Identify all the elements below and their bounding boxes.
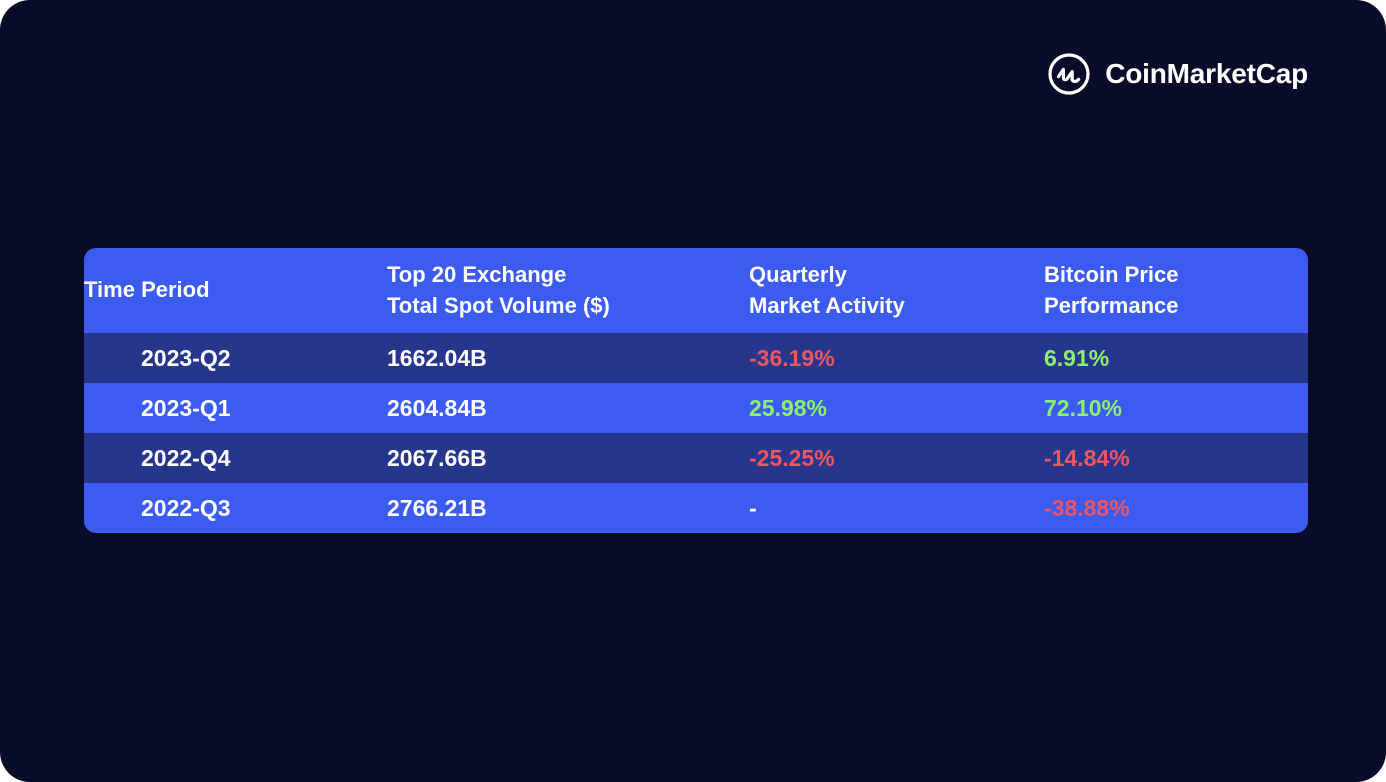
cell-market-activity: -36.19% [749,333,1044,383]
cell-time-period: 2022-Q3 [84,483,387,533]
quarterly-stats-table: Time Period Top 20 Exchange Total Spot V… [84,248,1308,533]
stats-table-container: Time Period Top 20 Exchange Total Spot V… [84,248,1308,533]
cell-market-activity: 25.98% [749,383,1044,433]
cell-time-period: 2023-Q2 [84,333,387,383]
column-header-btc-performance: Bitcoin Price Performance [1044,248,1308,333]
cell-btc-performance: -14.84% [1044,433,1308,483]
cell-spot-volume: 2766.21B [387,483,749,533]
table-row: 2022-Q4 2067.66B -25.25% -14.84% [84,433,1308,483]
cell-time-period: 2023-Q1 [84,383,387,433]
table-body: 2023-Q2 1662.04B -36.19% 6.91% 2023-Q1 2… [84,333,1308,533]
table-row: 2022-Q3 2766.21B - -38.88% [84,483,1308,533]
cell-spot-volume: 1662.04B [387,333,749,383]
table-row: 2023-Q1 2604.84B 25.98% 72.10% [84,383,1308,433]
table-header: Time Period Top 20 Exchange Total Spot V… [84,248,1308,333]
table-row: 2023-Q2 1662.04B -36.19% 6.91% [84,333,1308,383]
cell-btc-performance: 72.10% [1044,383,1308,433]
cell-time-period: 2022-Q4 [84,433,387,483]
column-header-time-period: Time Period [84,248,387,333]
brand-name: CoinMarketCap [1105,60,1308,88]
cell-spot-volume: 2604.84B [387,383,749,433]
cell-btc-performance: -38.88% [1044,483,1308,533]
column-header-market-activity: Quarterly Market Activity [749,248,1044,333]
brand-logo: CoinMarketCap [1047,52,1308,96]
table-header-row: Time Period Top 20 Exchange Total Spot V… [84,248,1308,333]
cell-market-activity: -25.25% [749,433,1044,483]
coinmarketcap-circle-m-icon [1047,52,1091,96]
cell-btc-performance: 6.91% [1044,333,1308,383]
page-root: CoinMarketCap Time Period Top 20 Exchang… [0,0,1386,782]
column-header-spot-volume: Top 20 Exchange Total Spot Volume ($) [387,248,749,333]
cell-market-activity: - [749,483,1044,533]
cell-spot-volume: 2067.66B [387,433,749,483]
